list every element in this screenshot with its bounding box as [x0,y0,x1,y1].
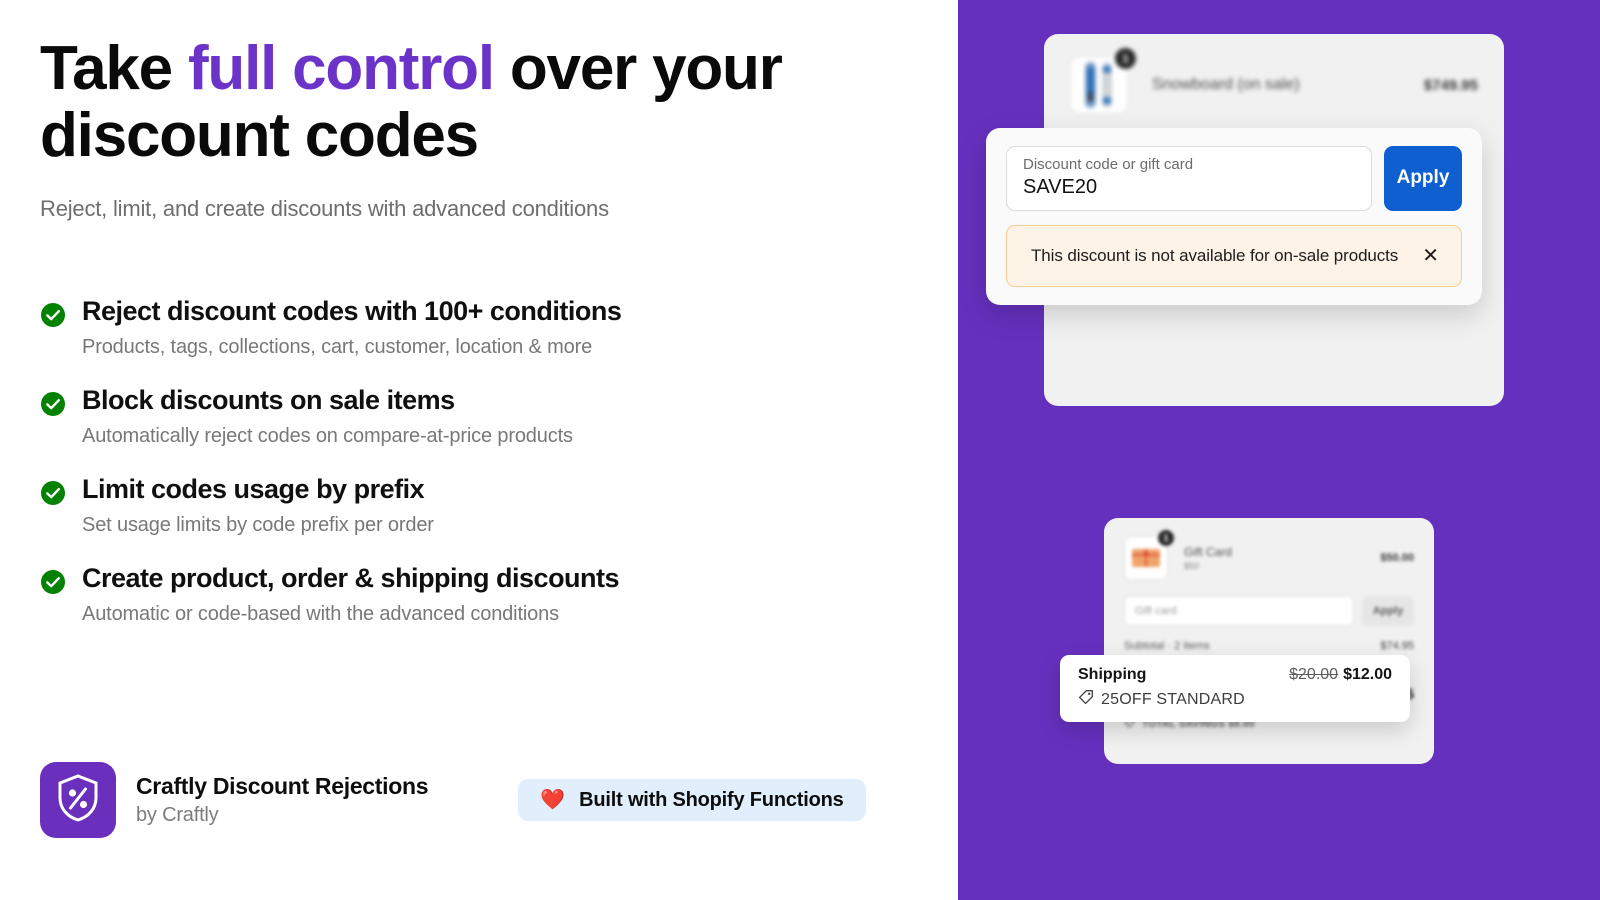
feature-description: Products, tags, collections, cart, custo… [82,335,621,359]
feature-title: Block discounts on sale items [82,385,573,416]
summary-value: $74.95 [1380,640,1414,652]
discount-input-row: Discount code or gift card SAVE20 Apply [1006,146,1462,211]
apply-discount-button[interactable]: Apply [1384,146,1462,211]
feature-title: Reject discount codes with 100+ conditio… [82,296,621,327]
feature-text-block: Reject discount codes with 100+ conditio… [82,296,621,359]
feature-description: Set usage limits by code prefix per orde… [82,513,434,537]
feature-text-block: Block discounts on sale items Automatica… [82,385,573,448]
feature-item: Block discounts on sale items Automatica… [40,385,918,448]
check-circle-icon [40,569,66,595]
feature-text-block: Limit codes usage by prefix Set usage li… [82,474,434,537]
line-item-variant: $50 [1184,561,1380,571]
gift-card-input[interactable]: Gift card [1124,596,1354,626]
badge-label: Built with Shopify Functions [579,789,843,812]
line-item-thumbnail-wrap: 1 [1070,56,1128,114]
page-subtitle: Reject, limit, and create discounts with… [40,196,918,222]
line-item-name: Gift Card [1184,545,1380,559]
cart-line-item: 1 Snowboard (on sale) $749.95 [1044,34,1504,114]
shipping-price-row: Shipping $20.00$12.00 [1078,666,1392,684]
shipping-prices: $20.00$12.00 [1289,666,1392,684]
line-item-quantity-badge: 1 [1115,48,1136,69]
gift-card-apply-button[interactable]: Apply [1362,596,1414,626]
brand-text-block: Craftly Discount Rejections by Craftly [136,773,428,827]
headline-text-before: Take [40,34,188,103]
line-item-price: $749.95 [1424,77,1478,94]
feature-item: Create product, order & shipping discoun… [40,563,918,626]
brand-block: Craftly Discount Rejections by Craftly [40,762,428,838]
app-logo [40,762,116,838]
feature-list: Reject discount codes with 100+ conditio… [40,296,918,626]
discount-code-input-value: SAVE20 [1023,176,1355,199]
built-with-shopify-functions-badge: ❤️ Built with Shopify Functions [518,779,865,821]
right-preview-panel: 1 Snowboard (on sale) $749.95 Subtotal $… [958,0,1600,900]
page-title: Take full control over your discount cod… [40,36,820,170]
summary-label: Subtotal · 2 items [1124,640,1210,652]
left-content-panel: Take full control over your discount cod… [0,0,958,900]
shipping-discount-code-row: 25OFF STANDARD [1078,689,1392,710]
line-item-name-block: Gift Card $50 [1184,545,1380,571]
check-circle-icon [40,302,66,328]
discount-code-input-label: Discount code or gift card [1023,156,1355,175]
discount-code-overlay: Discount code or gift card SAVE20 Apply … [986,128,1482,305]
feature-title: Limit codes usage by prefix [82,474,434,505]
shipping-price-discounted: $12.00 [1343,666,1392,683]
shield-percent-icon [55,773,101,828]
warning-message: This discount is not available for on-sa… [1031,246,1398,266]
cart-line-item: 1 Gift Card $50 $50.00 [1104,518,1434,580]
close-icon[interactable]: ✕ [1422,246,1439,266]
tag-icon [1078,689,1094,710]
heart-icon: ❤️ [540,790,565,810]
feature-description: Automatically reject codes on compare-at… [82,424,573,448]
check-circle-icon [40,391,66,417]
checkout-card-bottom: 1 Gift Card $50 $50.00 Gift card Apply S… [1104,518,1434,764]
feature-item: Limit codes usage by prefix Set usage li… [40,474,918,537]
feature-description: Automatic or code-based with the advance… [82,602,619,626]
app-author: by Craftly [136,804,428,827]
gift-card-input-row: Gift card Apply [1104,580,1434,626]
summary-row-subtotal: Subtotal · 2 items $74.95 [1124,640,1414,652]
footer-bar: Craftly Discount Rejections by Craftly ❤… [40,762,918,838]
feature-text-block: Create product, order & shipping discoun… [82,563,619,626]
check-circle-icon [40,480,66,506]
feature-title: Create product, order & shipping discoun… [82,563,619,594]
line-item-price: $50.00 [1380,552,1414,564]
headline-accent-text: full control [188,34,494,103]
discount-code-input[interactable]: Discount code or gift card SAVE20 [1006,146,1372,211]
discount-warning-banner: This discount is not available for on-sa… [1006,225,1462,287]
shipping-discount-code: 25OFF STANDARD [1101,691,1245,709]
line-item-thumbnail-wrap: 1 [1124,536,1168,580]
shipping-price-original: $20.00 [1289,666,1338,683]
feature-item: Reject discount codes with 100+ conditio… [40,296,918,359]
shipping-label: Shipping [1078,666,1146,684]
line-item-name: Snowboard (on sale) [1152,76,1424,94]
shipping-discount-overlay: Shipping $20.00$12.00 25OFF STANDARD [1060,655,1410,722]
app-name: Craftly Discount Rejections [136,773,428,800]
promo-banner: Take full control over your discount cod… [0,0,1600,900]
line-item-quantity-badge: 1 [1158,530,1174,546]
